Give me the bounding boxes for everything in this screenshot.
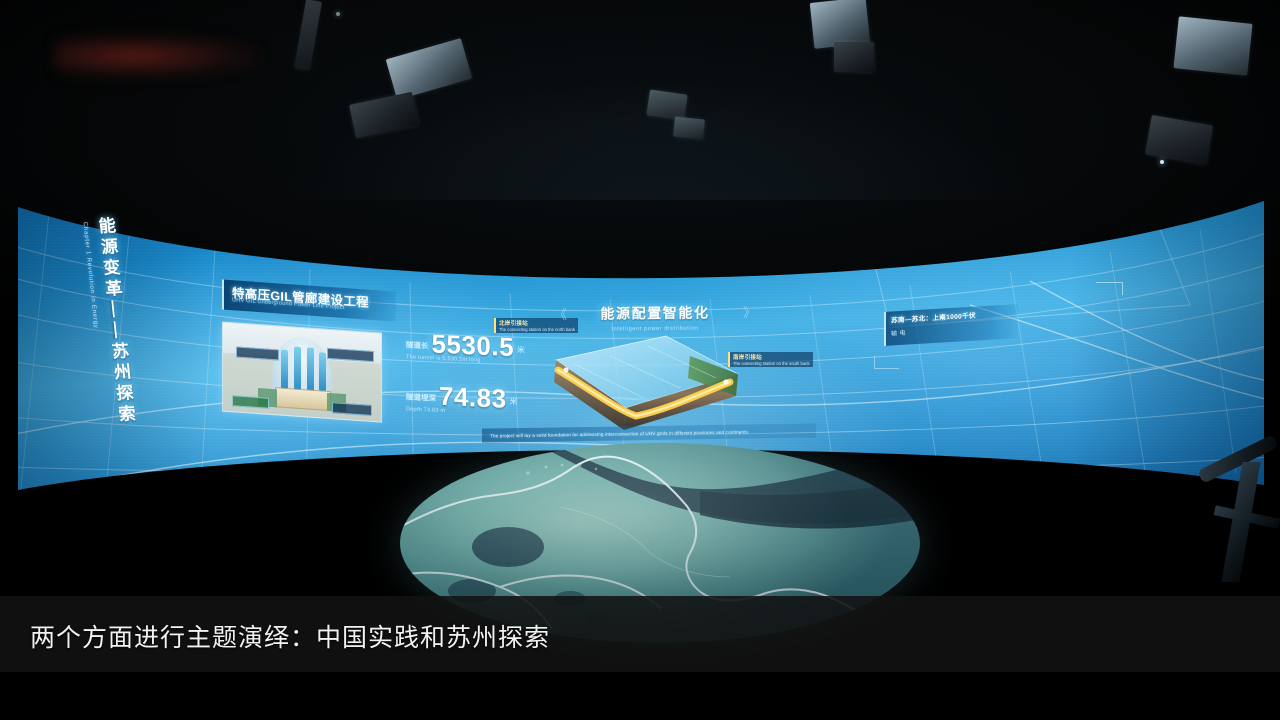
tunnel-3d-model[interactable]: 北岸引接站 The connecting station on the nort… — [540, 330, 745, 438]
project-statistics: 隧道长5530.5米 The tunnel is 5,530.5m long 隧… — [406, 327, 525, 436]
model-label-south-en: The connecting station on the south bank — [733, 361, 810, 366]
stat-caption-en-1: Depth 74.83 m — [406, 406, 445, 414]
photo-tag-bottom-left — [232, 395, 269, 409]
tunnel-3d-model-graphic — [540, 330, 745, 438]
chapter-title-en: Chapter 1 Revolution in Energy — [81, 222, 98, 329]
stat-unit-0: 米 — [517, 344, 525, 355]
project-panel-left[interactable]: 特高压GIL管廊建设工程 UHV GIL Underground Power L… — [222, 279, 408, 442]
ceiling-projector-4 — [673, 116, 705, 139]
wall-bottom-caption-text: The project will lay a solid foundation … — [482, 429, 750, 438]
gil-pipe-3 — [307, 348, 314, 392]
gil-pipe-4 — [319, 352, 326, 391]
photo-tag-left — [236, 346, 279, 360]
bracket-right-icon: 》 — [743, 302, 756, 321]
stat-unit-1: 米 — [510, 396, 518, 407]
model-label-south-cn: 南岸引接站 — [733, 353, 810, 361]
stat-label-cn-0: 隧道长 — [406, 339, 429, 351]
gil-pipe-2 — [294, 347, 301, 391]
right-bracket-corner-top — [1096, 282, 1123, 295]
center-heading-block: 《 》 能源配置智能化 Intelligent power distributi… — [560, 302, 750, 333]
right-info-line2: 输 电 — [891, 321, 1013, 337]
tunnel-floor-slab — [275, 388, 331, 411]
stat-tunnel-depth: 隧道埋深74.83米 Depth 74.83 m — [406, 379, 525, 418]
ceiling-haze — [0, 0, 1280, 200]
tunnel-cross-section-image — [222, 321, 382, 422]
screenshot-stage: 能源变革——苏州探索 Chapter 1 Revolution in Energ… — [0, 0, 1280, 720]
ceiling-indicator-light-2 — [336, 12, 340, 16]
center-heading-cn: 能源配置智能化 — [560, 302, 750, 324]
photo-tag-bottom-right — [332, 402, 372, 416]
right-bracket-corner-bottom — [874, 356, 899, 369]
stat-value-1: 74.83 — [439, 381, 507, 415]
ceiling-projector-7 — [1173, 16, 1252, 75]
video-watermark — [55, 34, 260, 78]
ceiling-projector-6 — [834, 42, 874, 72]
bracket-left-icon: 《 — [554, 304, 567, 323]
chapter-title-cn: 能源变革——苏州探索 — [95, 216, 135, 426]
model-label-south: 南岸引接站 The connecting station on the sout… — [728, 352, 813, 367]
stat-label-cn-1: 隧道埋深 — [406, 391, 436, 403]
subtitle-text: 两个方面进行主题演绎：中国实践和苏州探索 — [30, 618, 550, 654]
ceiling-projector-3 — [646, 89, 687, 120]
gil-pipe-1 — [281, 350, 288, 389]
letterbox-bottom — [0, 672, 1280, 720]
ceiling-indicator-light-1 — [1160, 160, 1164, 164]
